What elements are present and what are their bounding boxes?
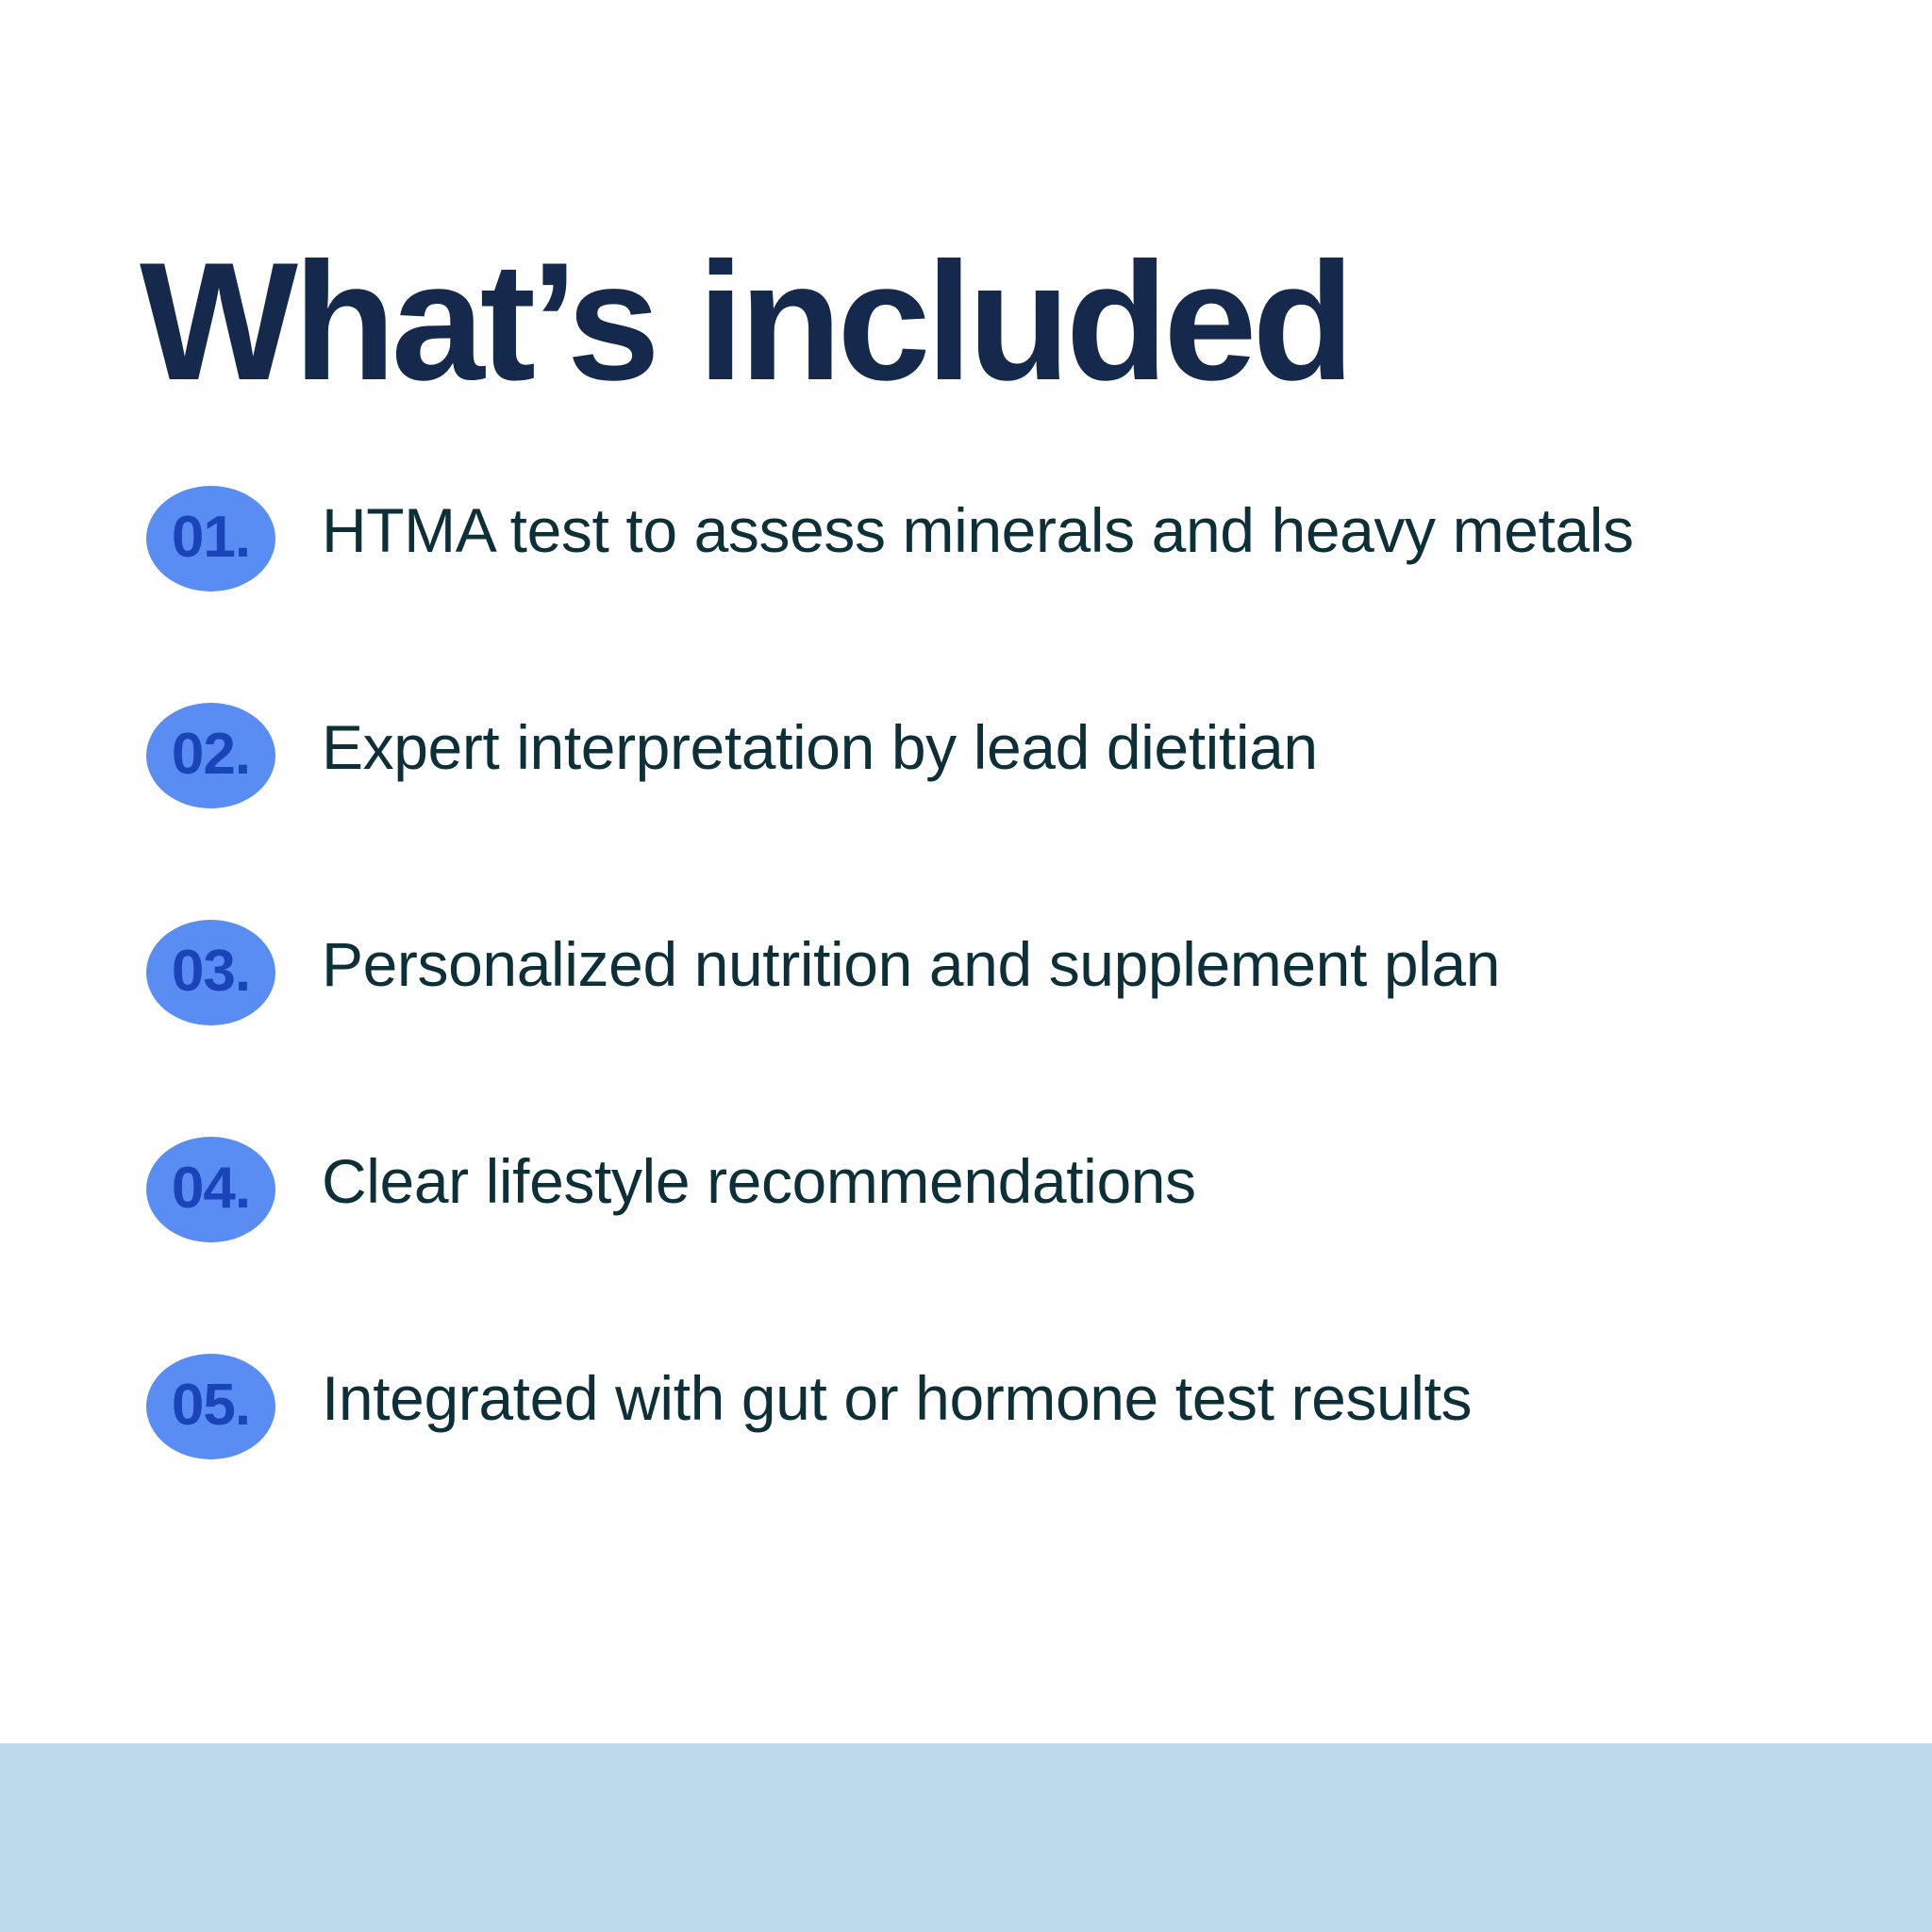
feature-number-badge: 05. (146, 1354, 275, 1459)
list-item: 03. Personalized nutrition and supplemen… (0, 899, 1932, 1116)
bottom-color-band (0, 1743, 1932, 1932)
page-title: What’s included (140, 231, 1743, 412)
feature-text: Clear lifestyle recommendations (322, 1144, 1850, 1219)
feature-text: Expert interpretation by lead dietitian (322, 710, 1850, 785)
feature-number-label: 01. (172, 508, 250, 567)
list-item: 05. Integrated with gut or hormone test … (0, 1333, 1932, 1550)
feature-number-badge: 02. (146, 703, 275, 808)
feature-text: Integrated with gut or hormone test resu… (322, 1361, 1850, 1436)
list-item: 01. HTMA test to assess minerals and hea… (0, 465, 1932, 682)
feature-number-label: 03. (172, 942, 250, 1001)
slide-canvas: What’s included 01. HTMA test to assess … (0, 0, 1932, 1932)
feature-number-badge: 03. (146, 920, 275, 1025)
feature-number-badge: 01. (146, 486, 275, 591)
list-item: 04. Clear lifestyle recommendations (0, 1116, 1932, 1333)
feature-text: Personalized nutrition and supplement pl… (322, 927, 1850, 1002)
list-item: 02. Expert interpretation by lead dietit… (0, 682, 1932, 899)
feature-number-label: 02. (172, 725, 250, 784)
feature-text: HTMA test to assess minerals and heavy m… (322, 493, 1850, 568)
feature-number-label: 05. (172, 1376, 250, 1435)
feature-list: 01. HTMA test to assess minerals and hea… (0, 465, 1932, 1550)
feature-number-badge: 04. (146, 1137, 275, 1242)
feature-number-label: 04. (172, 1159, 250, 1218)
